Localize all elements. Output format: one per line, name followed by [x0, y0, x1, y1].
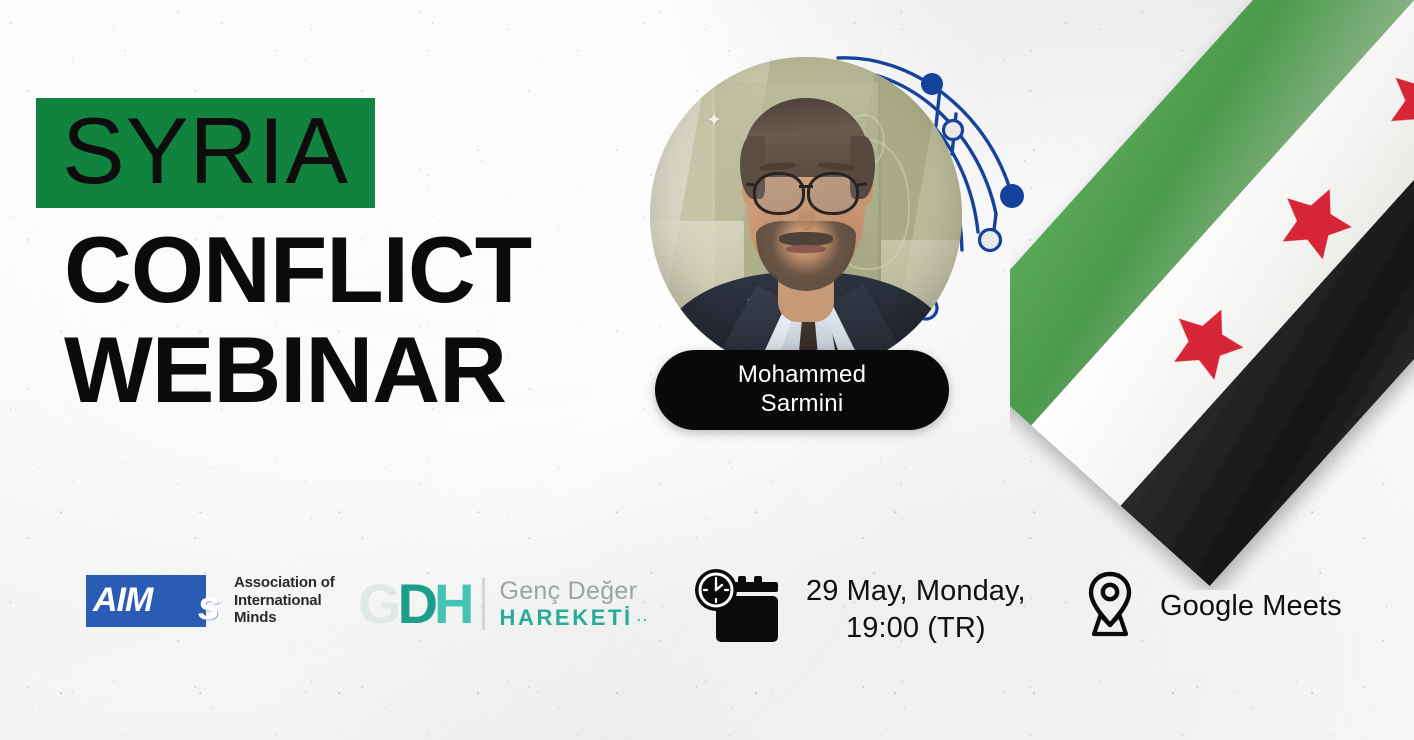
- speaker-photo: ✦: [650, 57, 962, 373]
- aims-tagline-line-2: International: [234, 592, 335, 610]
- gdh-divider: [482, 578, 485, 630]
- gdh-logo[interactable]: GDH Genç Değer HAREKETİ··: [358, 576, 649, 632]
- webinar-poster: SYRIA CONFLICT WEBINAR ✦: [0, 0, 1414, 740]
- speaker-name-badge: Mohammed Sarmini: [655, 350, 949, 430]
- calendar-clock-icon: [692, 564, 784, 655]
- aims-tagline-line-1: Association of: [234, 574, 335, 592]
- event-date-block: 29 May, Monday, 19:00 (TR): [692, 564, 1026, 655]
- speaker-portrait-container: ✦: [650, 57, 962, 373]
- headline-line-3: WEBINAR: [64, 320, 636, 420]
- footer-bar: AIM s Association of International Minds…: [0, 556, 1414, 666]
- aims-tagline: Association of International Minds: [234, 574, 335, 627]
- glasses-bridge: [799, 185, 814, 188]
- gdh-letter-h: H: [434, 572, 470, 635]
- gdh-tagline-top: Genç Değer: [499, 578, 648, 606]
- event-location-text: Google Meets: [1160, 590, 1342, 623]
- syria-flag: [1010, 0, 1414, 590]
- page-title: SYRIA CONFLICT WEBINAR: [36, 98, 636, 420]
- event-location-block: Google Meets: [1082, 568, 1342, 645]
- mouth: [786, 245, 827, 253]
- glasses-temple-left: [745, 182, 755, 186]
- speaker-figure: [650, 57, 962, 373]
- lens-right: [807, 172, 859, 214]
- aims-badge: AIM s: [86, 575, 206, 627]
- gdh-letter-g: G: [358, 572, 398, 635]
- aims-wordmark: AIM: [93, 581, 152, 620]
- aims-s-letter: s: [198, 584, 220, 629]
- gdh-tagline: Genç Değer HAREKETİ··: [499, 578, 648, 630]
- gdh-letter-d: D: [398, 572, 434, 635]
- aims-tagline-line-3: Minds: [234, 609, 335, 627]
- mustache: [779, 232, 832, 245]
- speaker-last-name: Sarmini: [761, 390, 844, 417]
- aims-logo[interactable]: AIM s Association of International Minds: [86, 574, 335, 627]
- syria-highlight-box: SYRIA: [36, 98, 375, 208]
- event-date-text: 29 May, Monday, 19:00 (TR): [806, 573, 1026, 646]
- headline-line-2: CONFLICT: [64, 220, 636, 320]
- glasses-temple-right: [857, 182, 867, 186]
- event-date-line-2: 19:00 (TR): [806, 610, 1026, 646]
- speaker-first-name: Mohammed: [738, 361, 866, 388]
- gdh-tagline-bottom: HAREKETİ··: [499, 606, 648, 630]
- event-date-line-1: 29 May, Monday,: [806, 573, 1026, 609]
- gdh-dots: ··: [637, 613, 649, 630]
- map-pin-icon: [1082, 568, 1138, 645]
- lens-left: [753, 172, 805, 214]
- gdh-tagline-bottom-text: HAREKETİ: [499, 605, 632, 630]
- headline-line-1: SYRIA: [62, 98, 349, 203]
- gdh-wordmark: GDH: [358, 576, 470, 632]
